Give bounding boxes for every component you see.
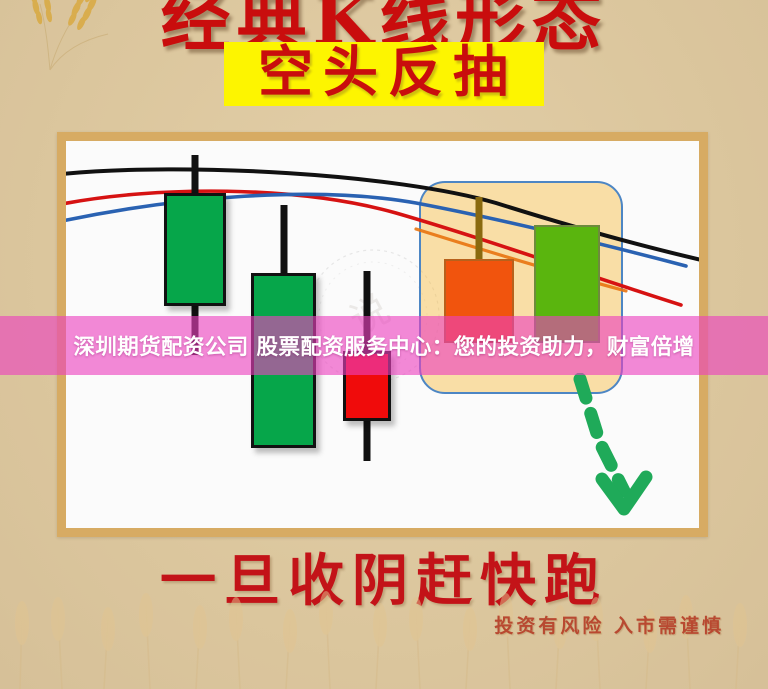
candle-1-body	[164, 193, 226, 306]
promo-banner[interactable]: 深圳期货配资公司 股票配资服务中心：您的投资助力，财富倍增	[0, 316, 768, 375]
subheadline-highlight: 空头反抽	[224, 42, 544, 106]
ma-line-black	[66, 169, 699, 261]
poster-root: 经典K线形态 空头反抽 说	[0, 0, 768, 689]
promo-banner-text: 深圳期货配资公司 股票配资服务中心：您的投资助力，财富倍增	[0, 330, 768, 361]
down-trend-arrow-icon	[566, 373, 686, 528]
risk-disclaimer: 投资有风险 入市需谨慎	[494, 611, 724, 638]
subheadline-text: 空头反抽	[250, 44, 518, 100]
